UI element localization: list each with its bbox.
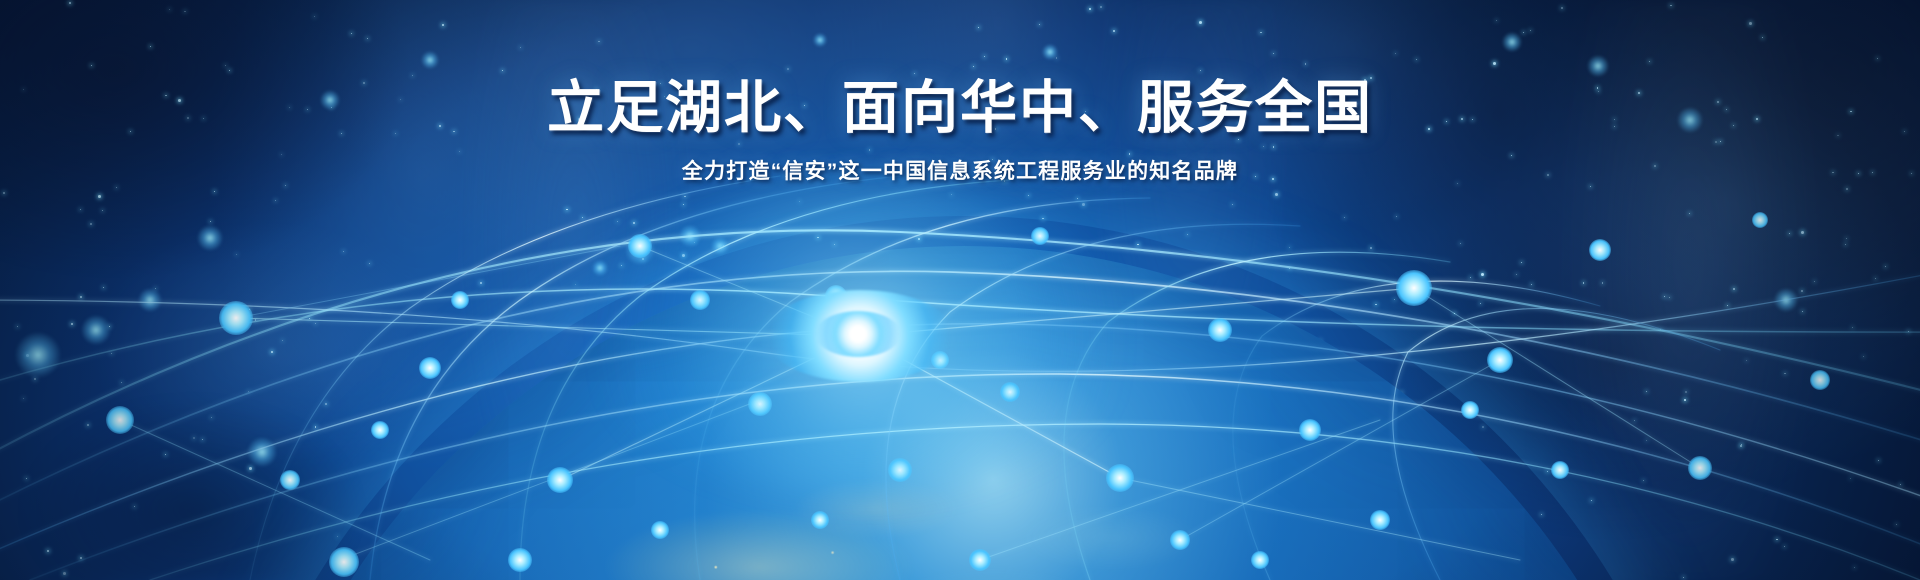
- hero-banner: 立足湖北、面向华中、服务全国 全力打造“信安”这一中国信息系统工程服务业的知名品…: [0, 0, 1920, 580]
- network-node: [451, 291, 469, 309]
- network-node: [811, 511, 829, 529]
- network-node: [1208, 318, 1232, 342]
- network-node: [547, 467, 573, 493]
- network-node: [969, 549, 991, 571]
- network-node: [1170, 530, 1190, 550]
- network-node: [1396, 270, 1432, 306]
- network-node: [1752, 212, 1768, 228]
- network-node: [1106, 464, 1134, 492]
- network-node: [329, 547, 359, 577]
- network-node: [106, 406, 134, 434]
- network-node: [651, 521, 669, 539]
- network-node: [1487, 347, 1513, 373]
- network-node: [508, 548, 532, 572]
- network-node: [1251, 551, 1269, 569]
- banner-subheadline: 全力打造“信安”这一中国信息系统工程服务业的知名品牌: [0, 158, 1920, 185]
- network-node: [1370, 510, 1390, 530]
- network-node: [1810, 370, 1830, 390]
- network-node: [280, 470, 300, 490]
- network-node: [1688, 456, 1712, 480]
- network-node: [1299, 419, 1321, 441]
- network-node: [1551, 461, 1569, 479]
- central-light-core: [815, 311, 901, 357]
- network-node: [419, 357, 441, 379]
- banner-text-block: 立足湖北、面向华中、服务全国 全力打造“信安”这一中国信息系统工程服务业的知名品…: [0, 78, 1920, 185]
- network-node: [219, 301, 253, 335]
- network-node: [1589, 239, 1611, 261]
- network-node: [371, 421, 389, 439]
- banner-headline: 立足湖北、面向华中、服务全国: [0, 78, 1920, 140]
- network-node: [1461, 401, 1479, 419]
